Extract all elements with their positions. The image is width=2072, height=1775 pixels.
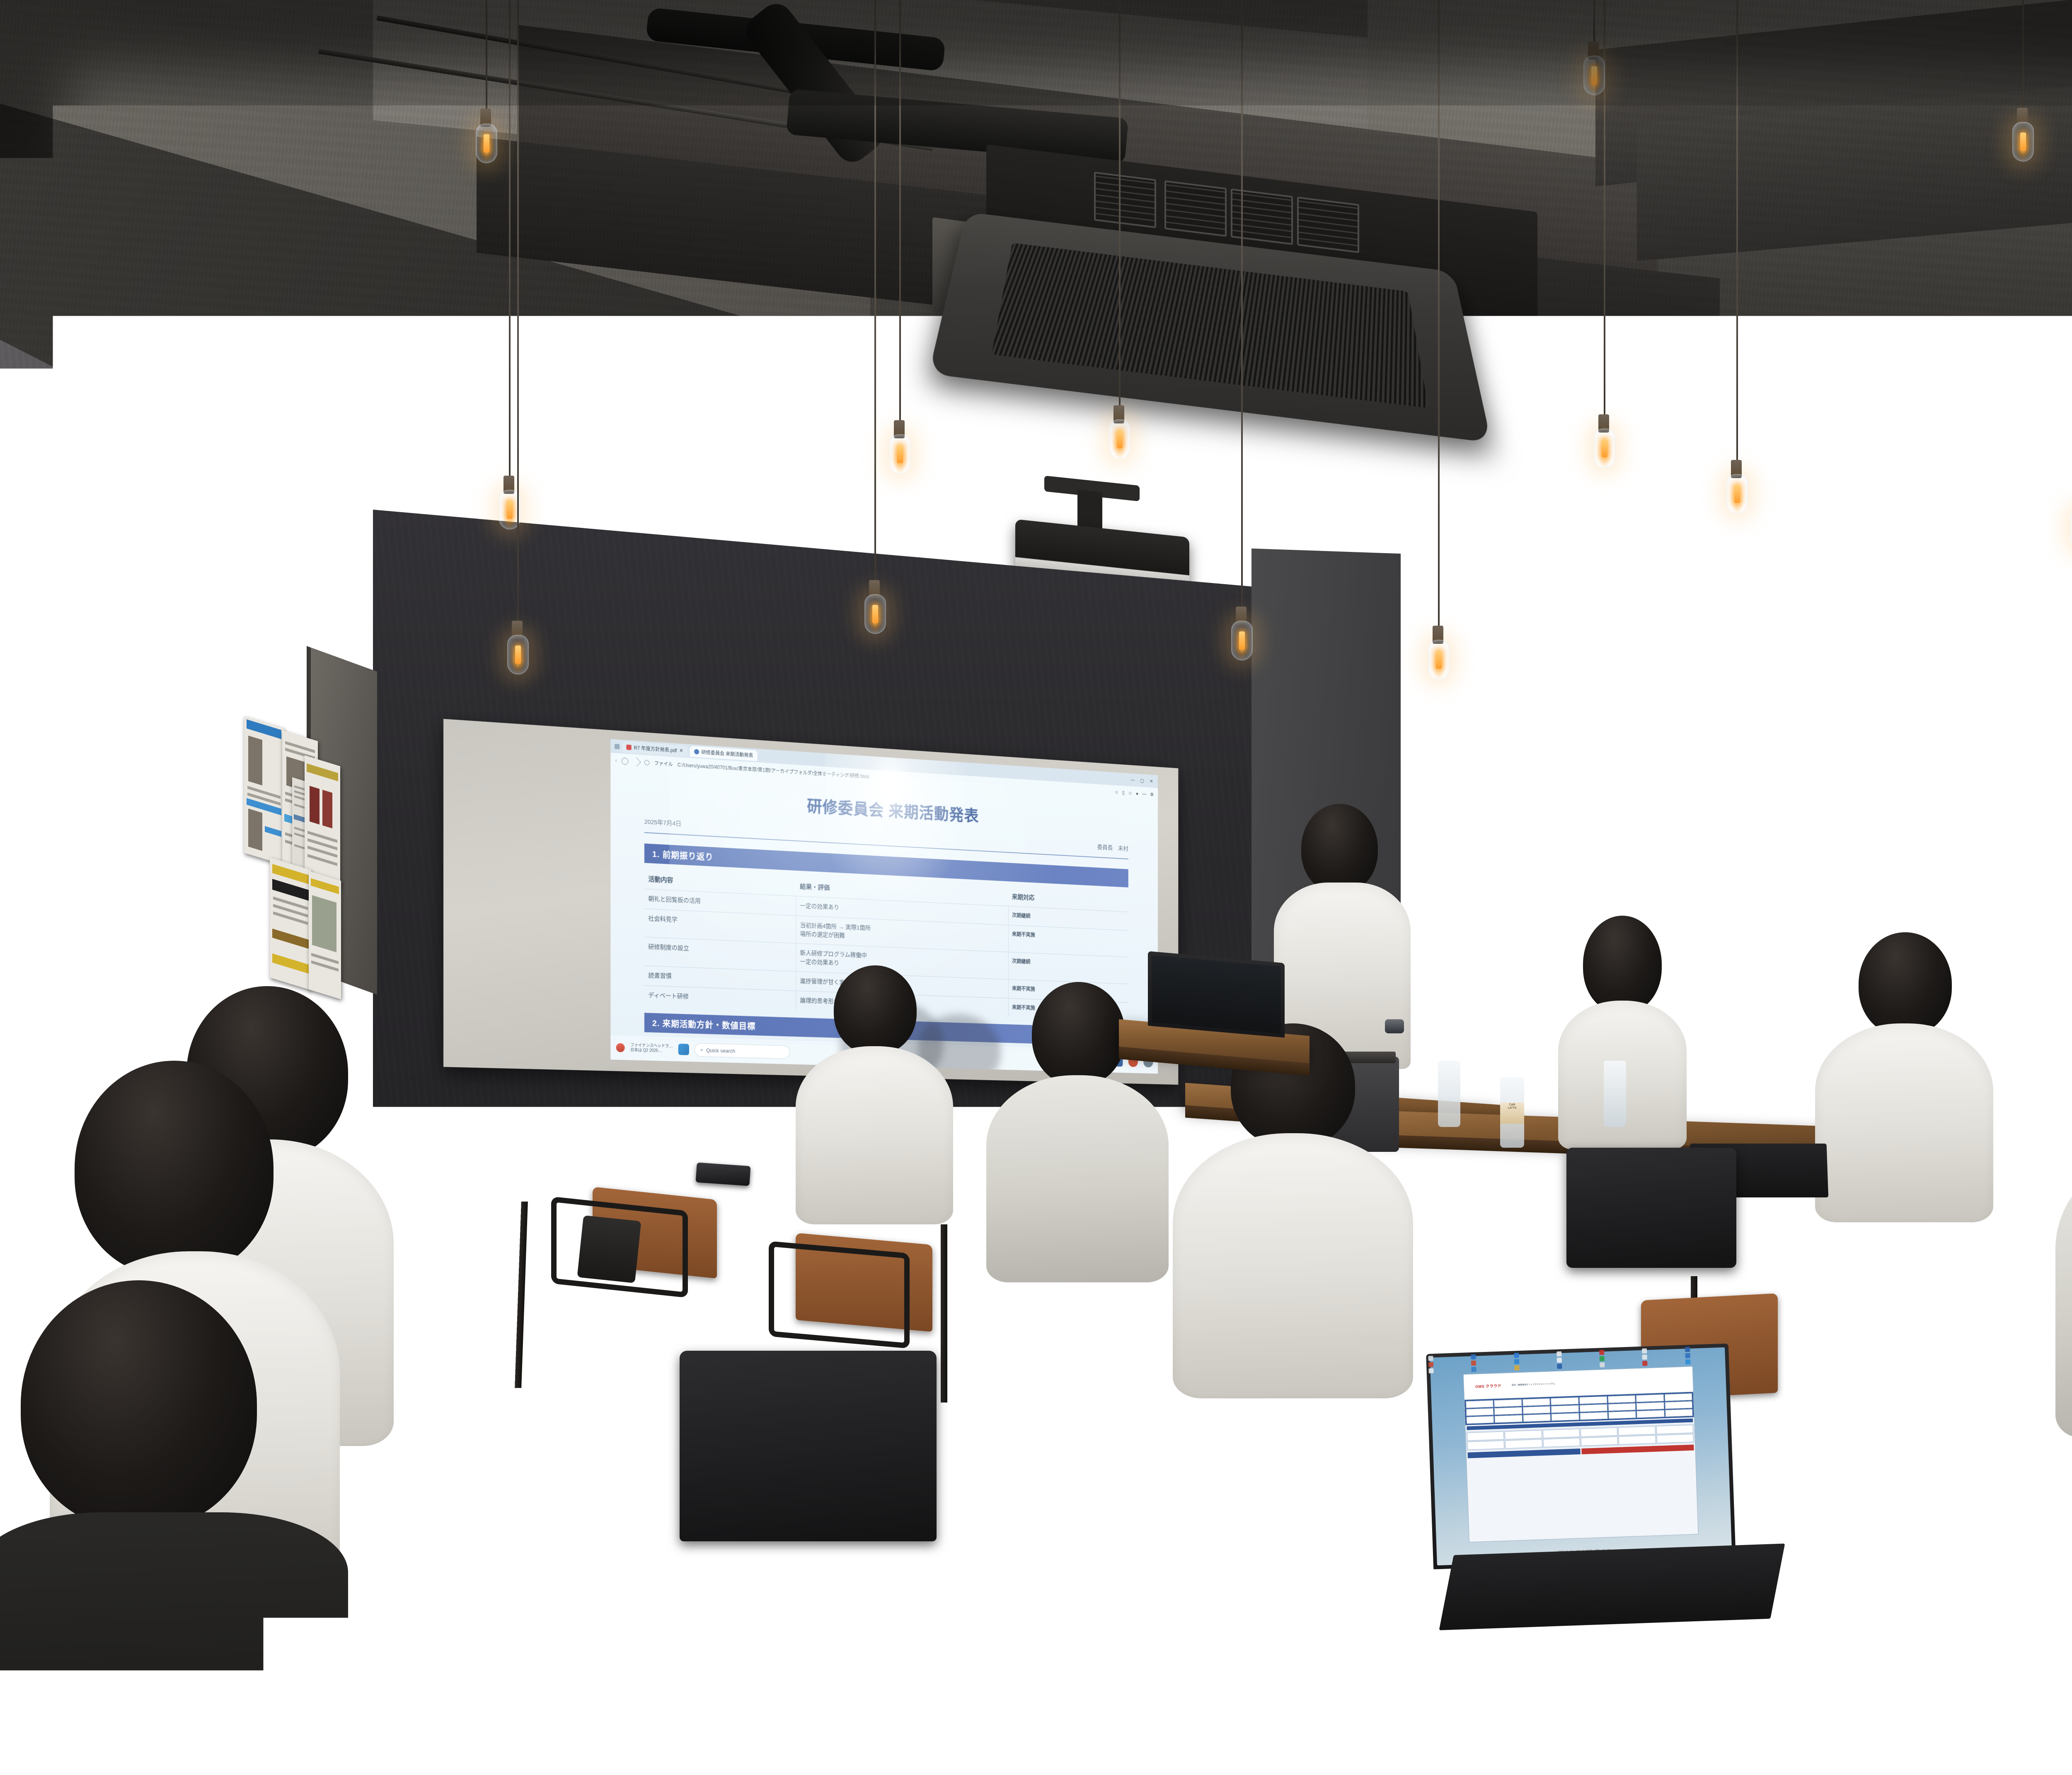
oms-submenu-cell[interactable] bbox=[1505, 1430, 1542, 1439]
remote-control[interactable] bbox=[695, 1163, 750, 1186]
drink-label-type: LATTE bbox=[1508, 1107, 1516, 1110]
foreground-laptop-keyboard[interactable] bbox=[1439, 1543, 1785, 1630]
oms-submenu-cell[interactable] bbox=[1656, 1434, 1694, 1443]
pendant-cord bbox=[509, 0, 511, 485]
room-photo: R7 年度方針発表.pdf ✕ 研修委員会 来期活動発表 — ▢ ✕ ‹ bbox=[0, 0, 2072, 1775]
pendant-cord bbox=[517, 0, 519, 630]
oms-submenu-cell[interactable] bbox=[1619, 1435, 1656, 1444]
app-icon bbox=[1430, 1362, 1433, 1367]
oms-menu-cell[interactable] bbox=[1665, 1401, 1692, 1409]
app-icon bbox=[1642, 1354, 1647, 1359]
pendant-cord bbox=[1438, 0, 1440, 634]
oms-menu-cell[interactable] bbox=[1494, 1407, 1522, 1415]
taskbar-search[interactable]: ⌕ Quick search bbox=[695, 1043, 790, 1059]
wall-posters bbox=[242, 712, 340, 999]
poster bbox=[305, 755, 340, 886]
widget-title: ファイナンスヘッドラ… bbox=[630, 1043, 673, 1049]
torso bbox=[1815, 1023, 1993, 1222]
attendee-foreground-front bbox=[0, 1280, 348, 1775]
home-icon[interactable] bbox=[632, 757, 641, 767]
app-icon bbox=[1685, 1347, 1690, 1352]
closed-laptop-mid-desk[interactable] bbox=[525, 1401, 635, 1446]
oms-menu-cell[interactable] bbox=[1580, 1412, 1607, 1420]
head bbox=[834, 965, 917, 1054]
info-icon bbox=[644, 759, 649, 765]
star-icon[interactable]: ☆ bbox=[1115, 789, 1118, 795]
smartphone-right-desk[interactable] bbox=[1927, 1266, 2007, 1295]
oms-submenu-cell[interactable] bbox=[1467, 1431, 1504, 1441]
oms-submenu-cell[interactable] bbox=[1618, 1426, 1656, 1435]
app-icon bbox=[1556, 1351, 1561, 1356]
mouse-foreground[interactable] bbox=[1881, 1537, 1956, 1591]
laptop-lid: OMS クラウド 販売・購買管理オフィスマネジメントシステム bbox=[1426, 1343, 1736, 1569]
app-icon bbox=[1556, 1357, 1561, 1362]
app-icon bbox=[1557, 1364, 1562, 1369]
oms-menu-cell[interactable] bbox=[1636, 1410, 1664, 1417]
cell-next-action: 来期不実施 bbox=[1008, 925, 1128, 957]
water-bottle-sill[interactable] bbox=[1604, 1061, 1626, 1127]
edison-bulb bbox=[1726, 474, 1748, 514]
blind-headrail bbox=[1359, 365, 2072, 402]
app-icon bbox=[1514, 1353, 1519, 1358]
oms-submenu-cell[interactable] bbox=[1581, 1427, 1618, 1436]
app-icon bbox=[1642, 1348, 1647, 1353]
app-icon bbox=[1685, 1353, 1690, 1358]
drink-label-brand: Café bbox=[1509, 1103, 1515, 1106]
oms-menu-cell[interactable] bbox=[1466, 1400, 1493, 1408]
chair-frame bbox=[769, 1241, 910, 1349]
oms-submenu-cell[interactable] bbox=[1581, 1436, 1618, 1446]
bottle-body: I WILL ALWAYS bbox=[1284, 1586, 1364, 1730]
drink-label: Café LATTE bbox=[1500, 1103, 1524, 1124]
search-placeholder: Quick search bbox=[706, 1047, 735, 1054]
app-icon bbox=[1600, 1362, 1605, 1367]
attendee-right bbox=[1815, 932, 1993, 1218]
edison-bulb bbox=[1594, 428, 1615, 468]
slide-date: 2025年7月4日 bbox=[644, 817, 681, 827]
slide-presenter: 委員長 末村 bbox=[1097, 843, 1128, 852]
oms-submenu-cell[interactable] bbox=[1543, 1438, 1580, 1447]
oms-menu-cell[interactable] bbox=[1552, 1413, 1579, 1421]
oms-menu-cell[interactable] bbox=[1551, 1397, 1578, 1405]
tab-label: R7 年度方針発表.pdf bbox=[634, 744, 677, 754]
oms-submenu-cell[interactable] bbox=[1542, 1429, 1580, 1438]
edison-bulb bbox=[1428, 640, 1450, 680]
edison-bulb bbox=[2012, 122, 2034, 162]
menu-icon[interactable]: ⚙ bbox=[1150, 792, 1154, 797]
drink-bottle-sill[interactable]: Café LATTE bbox=[1500, 1077, 1524, 1148]
edison-bulb bbox=[1583, 56, 1605, 95]
oms-menu-cell[interactable] bbox=[1580, 1404, 1607, 1412]
pendant-cord bbox=[899, 0, 901, 428]
widget-subtitle: 日本は Q2 2025… bbox=[630, 1048, 662, 1053]
oms-menu-cell[interactable] bbox=[1523, 1414, 1551, 1422]
minimize-icon[interactable]: — bbox=[1142, 791, 1146, 797]
oms-menu-cell[interactable] bbox=[1466, 1408, 1493, 1416]
url-scheme-label: ファイル bbox=[654, 759, 673, 767]
head bbox=[1301, 804, 1378, 893]
edison-bulb bbox=[1109, 419, 1130, 459]
minimize-button[interactable]: — bbox=[1130, 777, 1135, 783]
edison-bulb bbox=[1231, 621, 1253, 660]
pendant-cord bbox=[486, 0, 487, 117]
poster bbox=[309, 871, 341, 999]
pendant-cord bbox=[1736, 0, 1738, 468]
collections-icon[interactable]: ▯ bbox=[1122, 790, 1125, 796]
app-icon bbox=[1600, 1356, 1605, 1361]
attendee-center-right bbox=[1173, 1023, 1413, 1396]
oms-menu-cell[interactable] bbox=[1608, 1403, 1636, 1411]
pendant-cord bbox=[1119, 0, 1121, 414]
app-icon bbox=[1514, 1365, 1519, 1370]
favorites-icon[interactable]: ☆ bbox=[1128, 790, 1132, 796]
finance-widget-icon[interactable] bbox=[616, 1043, 625, 1052]
oms-menu-cell[interactable] bbox=[1523, 1406, 1551, 1414]
pendant-cord bbox=[2022, 0, 2024, 116]
oms-app-subtitle: 販売・購買管理オフィスマネジメントシステム bbox=[1512, 1382, 1555, 1387]
back-icon[interactable]: ‹ bbox=[615, 757, 617, 763]
oms-menu-cell[interactable] bbox=[1551, 1405, 1579, 1413]
oms-menu-cell[interactable] bbox=[1665, 1393, 1692, 1401]
bag-window-row[interactable] bbox=[1566, 1148, 1736, 1268]
reload-icon[interactable] bbox=[622, 757, 628, 765]
app-icon bbox=[1599, 1350, 1604, 1355]
pdf-icon bbox=[626, 744, 631, 750]
app-icon bbox=[1685, 1359, 1690, 1364]
start-icon[interactable] bbox=[678, 1044, 689, 1055]
tab-strip-icon[interactable] bbox=[615, 744, 620, 750]
pendant-cord bbox=[874, 0, 876, 588]
torso bbox=[1173, 1133, 1413, 1398]
edison-bulb bbox=[507, 635, 529, 675]
head bbox=[1032, 982, 1125, 1086]
head bbox=[1583, 916, 1662, 1013]
oms-menu-cell[interactable] bbox=[1523, 1398, 1550, 1406]
torso bbox=[796, 1046, 953, 1224]
oms-submenu-cell[interactable] bbox=[1505, 1439, 1542, 1449]
close-icon[interactable]: ✕ bbox=[679, 747, 683, 753]
oms-menu-cell[interactable] bbox=[1494, 1399, 1522, 1407]
chair[interactable] bbox=[1015, 1313, 1160, 1414]
backpack-on-desk[interactable] bbox=[680, 1351, 937, 1541]
bottle-label-line2: ALWAYS bbox=[1314, 1640, 1334, 1645]
search-icon: ⌕ bbox=[700, 1047, 703, 1053]
browser-toolbar-icons: ☆ ▯ ☆ ● — ⚙ bbox=[1115, 789, 1154, 797]
profile-icon[interactable]: ● bbox=[1136, 791, 1138, 796]
smartphone-foreground[interactable] bbox=[1452, 1649, 1539, 1707]
cell-next-action: 次期継続 bbox=[1008, 952, 1128, 984]
torso bbox=[986, 1075, 1169, 1282]
oms-menu-cell[interactable] bbox=[1608, 1395, 1636, 1403]
window-controls: — ▢ ✕ bbox=[1130, 777, 1158, 784]
torso bbox=[0, 1512, 348, 1775]
water-bottle[interactable]: I WILL ALWAYS bbox=[1280, 1552, 1368, 1730]
presenter-laptop[interactable] bbox=[1148, 951, 1285, 1038]
head bbox=[75, 1061, 274, 1276]
edison-bulb bbox=[476, 123, 497, 163]
app-icon bbox=[1430, 1368, 1433, 1373]
power-strip[interactable] bbox=[577, 1215, 641, 1283]
foreground-laptop-fujitsu[interactable]: OMS クラウド 販売・購買管理オフィスマネジメントシステム bbox=[1426, 1343, 1736, 1569]
water-bottle-sill[interactable] bbox=[1438, 1061, 1460, 1127]
oms-menu-cell[interactable] bbox=[1636, 1402, 1664, 1410]
app-icon bbox=[1430, 1356, 1433, 1361]
app-icon bbox=[1471, 1354, 1476, 1359]
poster bbox=[244, 716, 284, 865]
tab-label: 研修委員会 来期活動発表 bbox=[701, 748, 753, 759]
head bbox=[1859, 932, 1952, 1036]
poster bbox=[270, 857, 311, 990]
oms-menu-cell[interactable] bbox=[1608, 1411, 1636, 1419]
close-window-button[interactable]: ✕ bbox=[1150, 779, 1153, 784]
app-icon bbox=[1642, 1361, 1647, 1366]
pendant-cord bbox=[1241, 0, 1243, 615]
edison-bulb bbox=[889, 434, 911, 474]
attendee-far-right bbox=[2055, 1036, 2072, 1434]
oms-menu-cell[interactable] bbox=[1495, 1415, 1523, 1422]
app-icon bbox=[1514, 1359, 1519, 1364]
oms-cloud-window[interactable]: OMS クラウド 販売・購買管理オフィスマネジメントシステム bbox=[1463, 1366, 1699, 1542]
oms-menu-cell[interactable] bbox=[1636, 1394, 1664, 1402]
laptop-screen[interactable]: OMS クラウド 販売・購買管理オフィスマネジメントシステム bbox=[1430, 1347, 1732, 1566]
oms-submenu-cell[interactable] bbox=[1467, 1440, 1504, 1450]
oms-menu-cell[interactable] bbox=[1579, 1396, 1607, 1404]
torso bbox=[2055, 1152, 2072, 1438]
bottle-cap bbox=[1280, 1552, 1368, 1589]
oms-app-title: OMS クラウド bbox=[1475, 1383, 1501, 1389]
taskbar-news-widget[interactable]: ファイナンスヘッドラ… 日本は Q2 2025… bbox=[630, 1043, 673, 1054]
maximize-button[interactable]: ▢ bbox=[1140, 778, 1144, 783]
head bbox=[21, 1280, 257, 1529]
pen-case[interactable] bbox=[762, 1169, 809, 1190]
globe-icon bbox=[694, 749, 699, 754]
app-icon bbox=[1472, 1367, 1477, 1372]
attendee-left-of-screen bbox=[796, 965, 953, 1222]
oms-submenu-cell[interactable] bbox=[1656, 1424, 1693, 1434]
app-icon bbox=[1471, 1361, 1476, 1366]
bottle-label: I WILL ALWAYS bbox=[1284, 1637, 1363, 1645]
edison-bulb bbox=[864, 594, 886, 634]
oms-menu-cell[interactable] bbox=[1466, 1416, 1494, 1424]
oms-menu-cell[interactable] bbox=[1665, 1409, 1693, 1417]
